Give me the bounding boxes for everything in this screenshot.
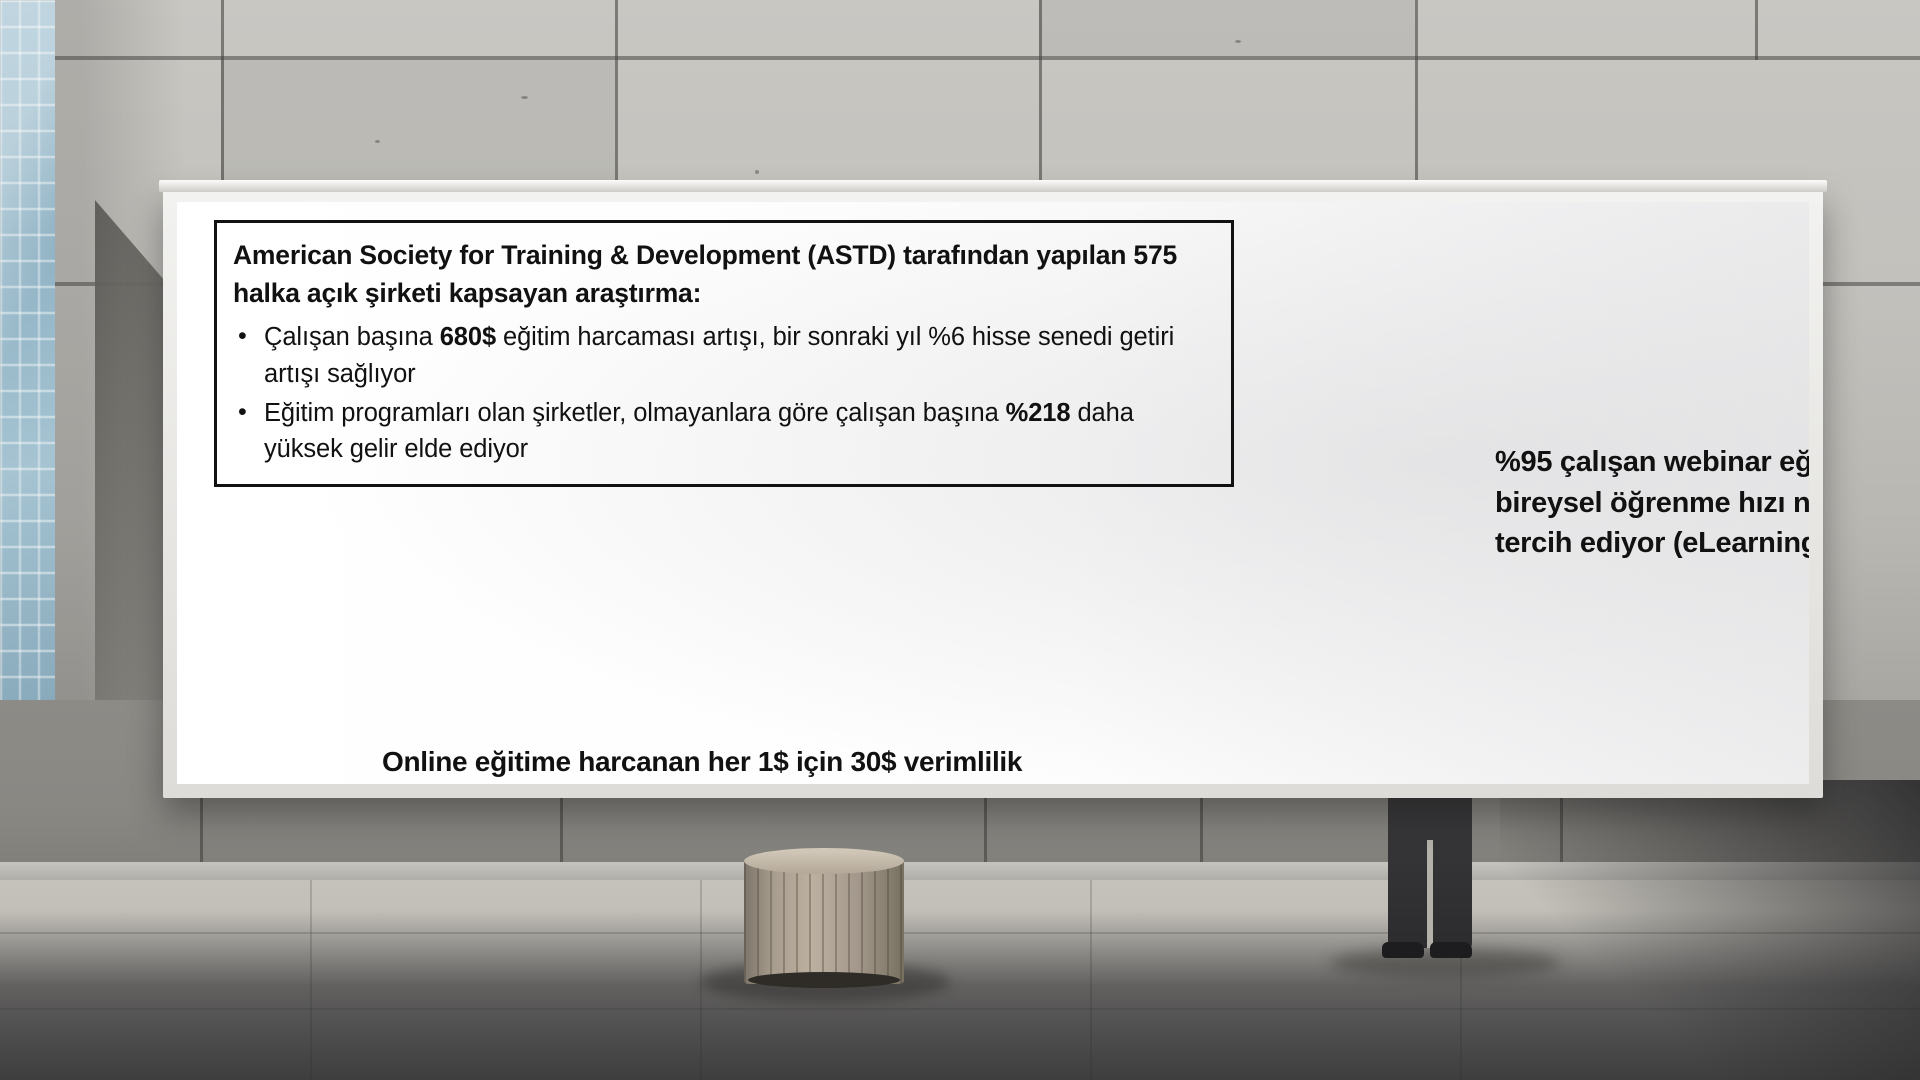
bullet-0-highlight: 680$ <box>440 323 496 351</box>
list-item: Çalışan başına 680$ eğitim harcaması art… <box>233 319 1215 392</box>
list-item: Eğitim programları olan şirketler, olmay… <box>233 395 1215 468</box>
bin-lid <box>744 848 904 874</box>
billboard: American Society for Training & Developm… <box>163 188 1823 798</box>
bullet-1-highlight: %218 <box>1006 399 1071 427</box>
astd-research-title: American Society for Training & Developm… <box>233 237 1215 312</box>
apollo-burnout-stat-text: 66% çalışan işte tükenmişlik yaşıyor (Ap… <box>1632 774 1809 784</box>
person-right-shoe <box>1430 942 1472 958</box>
webinar-stat-text: %95 çalışan webinar eğitimlerini bireyse… <box>1495 442 1809 564</box>
astd-bullet-list: Çalışan başına 680$ eğitim harcaması art… <box>233 319 1215 468</box>
bullet-1-before: Eğitim programları olan şirketler, olmay… <box>264 399 1006 427</box>
glass-office-building <box>0 0 62 800</box>
person-left-shoe <box>1382 942 1424 958</box>
street-scene: American Society for Training & Developm… <box>0 0 1920 1080</box>
corner-shadow <box>1500 780 1920 1080</box>
person-leg-gap <box>1427 840 1433 948</box>
bin-base <box>748 972 900 988</box>
wooden-trash-bin <box>744 858 904 984</box>
bullet-0-before: Çalışan başına <box>264 323 440 351</box>
billboard-surface: American Society for Training & Developm… <box>177 202 1809 784</box>
astd-research-box: American Society for Training & Developm… <box>214 220 1234 487</box>
ibm-roi-stat-text: Online eğitime harcanan her 1$ için 30$ … <box>382 742 1082 784</box>
